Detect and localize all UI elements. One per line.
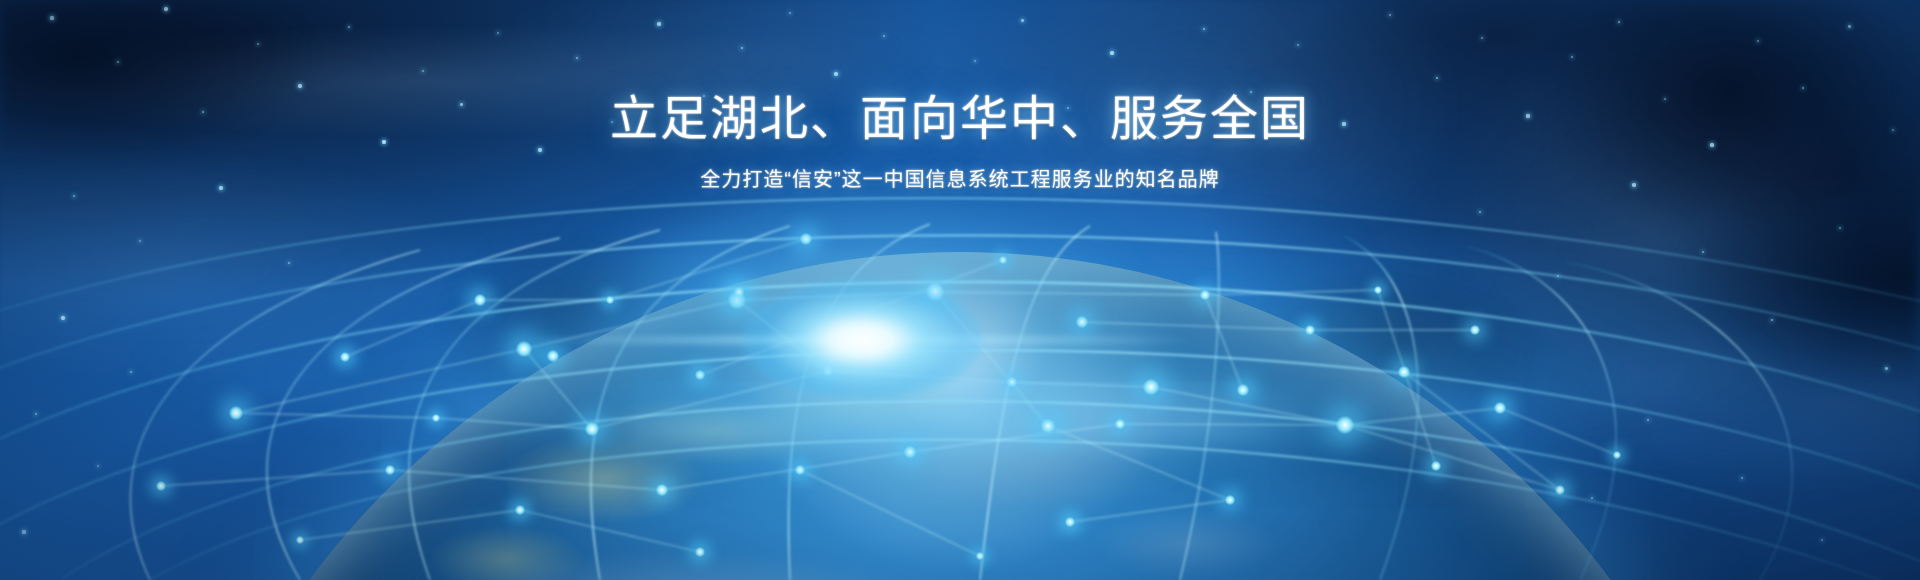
network-node <box>976 552 984 560</box>
network-node <box>1431 461 1441 471</box>
network-node <box>515 505 525 515</box>
network-node <box>1494 402 1506 414</box>
network-node <box>296 536 304 544</box>
network-node <box>1613 451 1621 459</box>
network-node <box>606 296 614 304</box>
network-node <box>1143 379 1159 395</box>
network-node <box>156 481 166 491</box>
network-node <box>795 465 805 475</box>
network-node <box>695 370 705 380</box>
network-node <box>1041 419 1055 433</box>
network-node <box>926 283 944 301</box>
network-node <box>1336 416 1354 434</box>
network-node <box>1065 517 1075 527</box>
network-node <box>904 446 916 458</box>
banner-copy: 立足湖北、面向华中、服务全国 全力打造“信安”这一中国信息系统工程服务业的知名品… <box>0 96 1920 190</box>
network-node <box>1305 325 1315 335</box>
network-node <box>1200 290 1210 300</box>
network-node <box>823 366 833 376</box>
network-node <box>1374 286 1382 294</box>
network-node <box>800 233 812 245</box>
network-node <box>229 406 243 420</box>
network-node <box>1398 366 1410 378</box>
network-node <box>656 484 668 496</box>
hero-banner: 立足湖北、面向华中、服务全国 全力打造“信安”这一中国信息系统工程服务业的知名品… <box>0 0 1920 580</box>
network-node <box>1007 377 1017 387</box>
network-node <box>516 341 532 357</box>
network-nodes <box>0 0 1920 580</box>
network-node <box>1225 495 1235 505</box>
network-node <box>474 294 486 306</box>
network-node <box>1470 325 1480 335</box>
banner-headline: 立足湖北、面向华中、服务全国 <box>0 96 1920 144</box>
network-node <box>695 547 705 557</box>
banner-subheadline: 全力打造“信安”这一中国信息系统工程服务业的知名品牌 <box>0 170 1920 190</box>
network-node <box>1076 316 1088 328</box>
network-node <box>385 465 395 475</box>
network-node <box>432 414 440 422</box>
network-node <box>999 256 1007 264</box>
network-node <box>547 350 559 362</box>
network-node <box>1555 485 1565 495</box>
network-node <box>585 422 599 436</box>
network-node <box>340 352 350 362</box>
network-node <box>734 287 744 297</box>
network-node <box>1237 384 1249 396</box>
network-node <box>1115 419 1125 429</box>
